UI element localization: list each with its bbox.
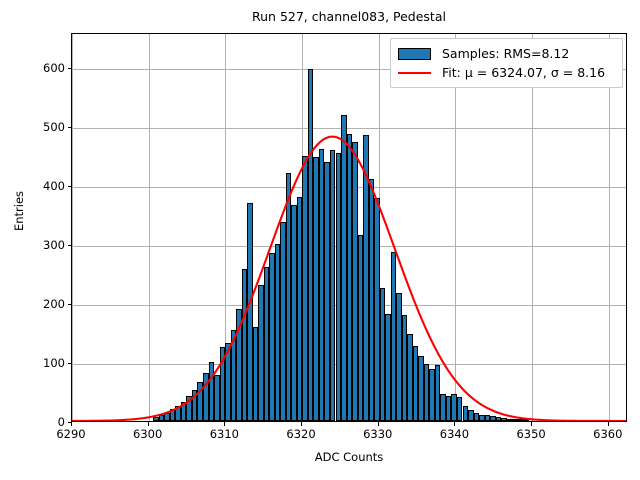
y-tick-label: 200 <box>43 297 65 311</box>
y-tick-label: 0 <box>58 415 65 429</box>
x-tick-label: 6300 <box>133 427 162 441</box>
y-tick-label: 300 <box>43 238 65 252</box>
x-tick-label: 6330 <box>363 427 392 441</box>
x-tick-label: 6290 <box>56 427 85 441</box>
x-axis-label: ADC Counts <box>71 450 627 464</box>
legend: Samples: RMS=8.12 Fit: μ = 6324.07, σ = … <box>390 38 623 88</box>
x-tick-mark <box>148 422 149 426</box>
x-tick-label: 6320 <box>286 427 315 441</box>
x-tick-mark <box>224 422 225 426</box>
x-tick-mark <box>608 422 609 426</box>
x-tick-mark <box>531 422 532 426</box>
x-tick-mark <box>378 422 379 426</box>
y-axis-label: Entries <box>12 131 26 291</box>
legend-item-samples: Samples: RMS=8.12 <box>398 44 615 63</box>
plot-area <box>71 33 627 422</box>
gaussian-fit-path <box>72 137 626 421</box>
y-tick-mark <box>68 186 72 187</box>
y-tick-label: 100 <box>43 356 65 370</box>
x-tick-label: 6310 <box>210 427 239 441</box>
y-tick-mark <box>68 363 72 364</box>
fit-curve <box>72 34 626 421</box>
x-tick-label: 6350 <box>516 427 545 441</box>
y-tick-mark <box>68 304 72 305</box>
y-tick-mark <box>68 127 72 128</box>
x-tick-label: 6340 <box>440 427 469 441</box>
y-tick-mark <box>68 68 72 69</box>
x-tick-mark <box>71 422 72 426</box>
y-tick-label: 600 <box>43 61 65 75</box>
y-tick-mark <box>68 422 72 423</box>
legend-label-samples: Samples: RMS=8.12 <box>442 46 569 61</box>
y-tick-label: 400 <box>43 179 65 193</box>
legend-label-fit: Fit: μ = 6324.07, σ = 8.16 <box>442 65 605 80</box>
x-tick-label: 6360 <box>593 427 622 441</box>
y-tick-mark <box>68 245 72 246</box>
figure: Run 527, channel083, Pedestal 6290630063… <box>0 0 640 480</box>
legend-swatch-wrap <box>398 72 431 74</box>
legend-patch-icon <box>398 48 431 60</box>
page-title: Run 527, channel083, Pedestal <box>71 9 627 24</box>
x-tick-mark <box>454 422 455 426</box>
y-tick-label: 500 <box>43 120 65 134</box>
legend-swatch-wrap <box>398 48 431 60</box>
legend-item-fit: Fit: μ = 6324.07, σ = 8.16 <box>398 63 615 82</box>
legend-line-icon <box>398 72 431 74</box>
x-tick-mark <box>301 422 302 426</box>
